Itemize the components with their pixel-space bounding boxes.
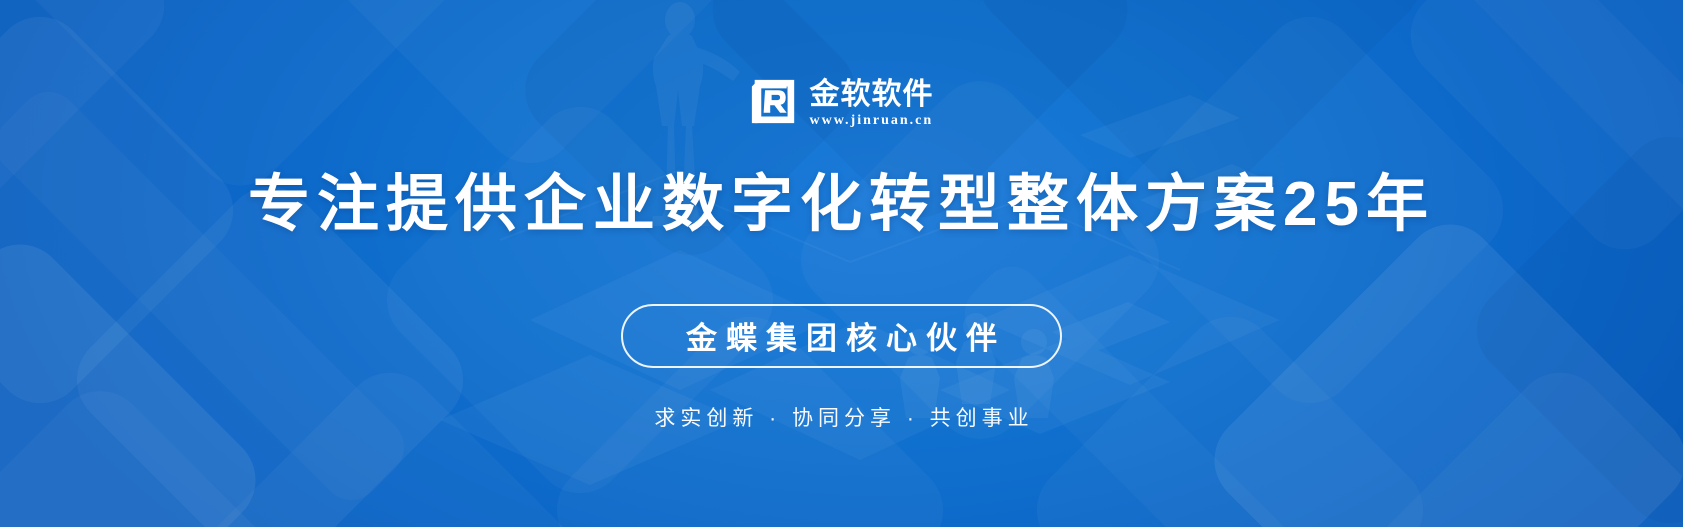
r-monogram-icon — [750, 78, 797, 125]
headline-text: 专注提供企业数字化转型整体方案25年 — [248, 170, 1435, 240]
partner-badge[interactable]: 金蝶集团核心伙伴 — [621, 304, 1062, 368]
banner-content: 金软软件 www.jinruan.cn 专注提供企业数字化转型整体方案25年 金… — [0, 0, 1683, 527]
logo-website: www.jinruan.cn — [810, 113, 934, 129]
partner-badge-label: 金蝶集团核心伙伴 — [677, 313, 1006, 358]
brand-logo[interactable]: 金软软件 www.jinruan.cn — [750, 78, 934, 134]
tagline-text: 求实创新 · 协同分享 · 共创事业 — [649, 402, 1033, 432]
hero-banner: 金软软件 www.jinruan.cn 专注提供企业数字化转型整体方案25年 金… — [0, 0, 1683, 527]
logo-company-name: 金软软件 — [810, 79, 934, 111]
